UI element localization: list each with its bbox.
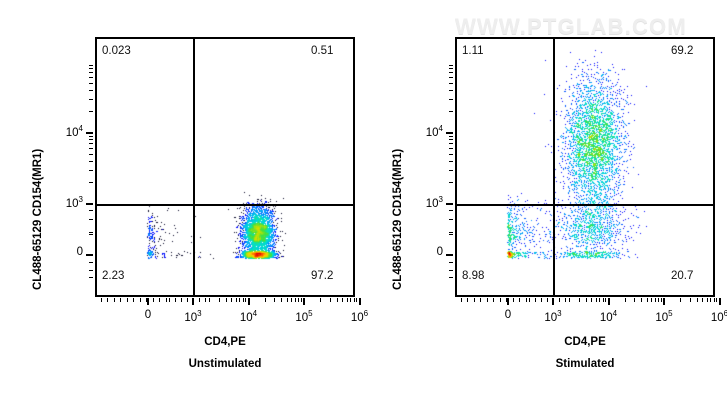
x-tick-minor [603, 298, 604, 302]
y-tick-minor [449, 277, 453, 278]
y-tick-minor [89, 111, 93, 112]
x-tick-minor [714, 298, 715, 302]
x-tick-minor [553, 298, 554, 302]
y-tick-major [446, 254, 453, 256]
y-tick-minor [449, 148, 453, 149]
y-tick-label: 103 [43, 195, 83, 210]
x-tick-minor [716, 298, 717, 302]
x-tick-minor [535, 298, 536, 302]
x-tick-label: 105 [284, 309, 324, 324]
x-tick-minor [569, 298, 570, 302]
x-tick-minor [166, 298, 167, 302]
x-tick-minor [175, 298, 176, 302]
x-axis-title-right: CD4,PE [455, 336, 715, 348]
x-tick-minor [265, 298, 266, 302]
x-tick-minor [159, 298, 160, 302]
x-tick-label: 0 [128, 309, 168, 321]
x-tick-minor [547, 298, 548, 302]
y-tick-minor [449, 139, 453, 140]
x-tick-label: 106 [700, 309, 727, 324]
y-tick-minor [89, 83, 93, 84]
x-tick-minor [239, 298, 240, 302]
x-tick-minor [226, 298, 227, 302]
x-tick-minor [350, 298, 351, 302]
x-tick-major [663, 298, 665, 305]
x-tick-minor [565, 298, 566, 302]
x-tick-minor [591, 298, 592, 302]
x-tick-minor [291, 298, 292, 302]
x-tick-minor [356, 298, 357, 302]
x-tick-minor [625, 298, 626, 302]
x-tick-minor [707, 298, 708, 302]
x-tick-minor [347, 298, 348, 302]
y-tick-minor [89, 262, 93, 263]
quadrant-label-lower-left-p1: 2.23 [102, 270, 124, 282]
x-tick-minor [526, 298, 527, 302]
x-tick-minor [480, 298, 481, 302]
y-tick-minor [449, 234, 453, 235]
x-tick-minor [500, 298, 501, 302]
x-tick-minor [680, 298, 681, 302]
x-tick-minor [605, 298, 606, 302]
y-axis-title-right: CL488-65129 CD154(MR1) [392, 149, 404, 290]
x-tick-minor [330, 298, 331, 302]
y-tick-minor [89, 68, 93, 69]
y-tick-minor [449, 270, 453, 271]
x-tick-minor [702, 298, 703, 302]
quadrant-divider-horizontal-left [97, 204, 353, 206]
x-tick-minor [354, 298, 355, 302]
y-tick-minor [89, 148, 93, 149]
x-tick-label: 104 [589, 309, 629, 324]
x-tick-minor [193, 298, 194, 302]
plot-area-unstimulated[interactable] [95, 37, 355, 297]
y-tick-minor [449, 65, 453, 66]
y-tick-minor [449, 83, 453, 84]
flow-cytometry-figure: WWW.PTGLAB.COM CL488-65129 CD154(MR1) 0.… [0, 0, 727, 407]
x-tick-minor [295, 298, 296, 302]
x-tick-minor [529, 298, 530, 302]
y-tick-label: 104 [43, 124, 83, 139]
y-tick-minor [89, 77, 93, 78]
x-tick-label: 103 [533, 309, 573, 324]
x-tick-minor [690, 298, 691, 302]
y-tick-label: 104 [403, 124, 443, 139]
x-tick-minor [559, 298, 560, 302]
y-tick-minor [89, 232, 93, 233]
x-tick-minor [199, 298, 200, 302]
x-tick-minor [243, 298, 244, 302]
y-tick-minor [449, 210, 453, 211]
x-tick-minor [153, 298, 154, 302]
y-tick-minor [89, 161, 93, 162]
x-tick-minor [579, 298, 580, 302]
quadrant-divider-horizontal-right [457, 204, 713, 206]
x-tick-minor [651, 298, 652, 302]
y-tick-minor [449, 136, 453, 137]
x-tick-major [608, 298, 610, 305]
y-tick-label: 0 [403, 246, 443, 258]
panel-unstimulated: CL488-65129 CD154(MR1) 0.023 0.51 2.23 9… [0, 0, 400, 407]
x-tick-major [147, 298, 149, 305]
x-tick-label: 104 [229, 309, 269, 324]
y-tick-minor [89, 99, 93, 100]
y-tick-minor [449, 219, 453, 220]
x-tick-minor [169, 298, 170, 302]
x-tick-minor [245, 298, 246, 302]
x-tick-minor [506, 298, 507, 302]
x-tick-minor [474, 298, 475, 302]
density-dotplot-canvas-unstimulated [97, 39, 353, 295]
y-tick-label: 0 [43, 246, 83, 258]
x-tick-minor [337, 298, 338, 302]
y-tick-major [86, 203, 93, 205]
x-tick-minor [647, 298, 648, 302]
y-tick-minor [449, 77, 453, 78]
x-tick-minor [133, 298, 134, 302]
x-tick-label: 0 [488, 309, 528, 321]
quadrant-label-upper-left-p2: 1.11 [462, 45, 484, 57]
quadrant-label-lower-right-p1: 97.2 [311, 270, 333, 282]
y-tick-major [86, 254, 93, 256]
x-tick-minor [586, 298, 587, 302]
quadrant-label-upper-right-p2: 69.2 [671, 45, 693, 57]
y-tick-minor [449, 154, 453, 155]
y-tick-minor [89, 136, 93, 137]
y-tick-minor [89, 90, 93, 91]
y-tick-minor [449, 143, 453, 144]
y-tick-minor [449, 68, 453, 69]
x-tick-minor [181, 298, 182, 302]
x-tick-minor [205, 298, 206, 302]
y-tick-minor [89, 182, 93, 183]
plot-area-stimulated[interactable] [455, 37, 715, 297]
y-tick-minor [89, 65, 93, 66]
y-tick-minor [89, 234, 93, 235]
x-tick-minor [231, 298, 232, 302]
x-tick-major [303, 298, 305, 305]
x-tick-major [248, 298, 250, 305]
x-tick-minor [467, 298, 468, 302]
x-tick-minor [127, 298, 128, 302]
x-tick-minor [596, 298, 597, 302]
y-tick-major [446, 203, 453, 205]
y-tick-minor [89, 139, 93, 140]
y-tick-label: 103 [403, 195, 443, 210]
y-tick-minor [449, 90, 453, 91]
y-tick-minor [89, 154, 93, 155]
y-tick-minor [449, 111, 453, 112]
y-tick-major [86, 132, 93, 134]
y-tick-minor [449, 170, 453, 171]
y-axis-title-left: CL488-65129 CD154(MR1) [32, 149, 44, 290]
x-tick-major [719, 298, 721, 305]
x-tick-minor [661, 298, 662, 302]
x-tick-minor [281, 298, 282, 302]
x-tick-minor [634, 298, 635, 302]
x-tick-minor [487, 298, 488, 302]
x-tick-minor [287, 298, 288, 302]
y-tick-minor [449, 161, 453, 162]
quadrant-divider-vertical-right [553, 39, 555, 295]
x-tick-minor [120, 298, 121, 302]
x-tick-minor [301, 298, 302, 302]
y-tick-minor [89, 277, 93, 278]
x-tick-minor [710, 298, 711, 302]
panel-caption-stimulated: Stimulated [455, 358, 715, 370]
panel-caption-unstimulated: Unstimulated [95, 358, 355, 370]
x-tick-minor [658, 298, 659, 302]
x-tick-major [507, 298, 509, 305]
x-tick-minor [101, 298, 102, 302]
y-tick-major [446, 132, 453, 134]
x-tick-label: 105 [644, 309, 684, 324]
x-tick-minor [513, 298, 514, 302]
x-tick-minor [697, 298, 698, 302]
y-tick-minor [89, 143, 93, 144]
x-tick-minor [146, 298, 147, 302]
x-tick-minor [541, 298, 542, 302]
y-tick-minor [449, 182, 453, 183]
x-tick-minor [114, 298, 115, 302]
y-tick-minor [449, 99, 453, 100]
x-tick-minor [493, 298, 494, 302]
x-tick-minor [140, 298, 141, 302]
x-tick-minor [655, 298, 656, 302]
x-tick-minor [641, 298, 642, 302]
x-tick-label: 103 [173, 309, 213, 324]
y-tick-minor [89, 219, 93, 220]
y-tick-minor [89, 210, 93, 211]
quadrant-label-lower-left-p2: 8.98 [462, 270, 484, 282]
x-tick-minor [236, 298, 237, 302]
quadrant-divider-vertical-left [193, 39, 195, 295]
y-tick-minor [449, 232, 453, 233]
x-tick-minor [519, 298, 520, 302]
density-dotplot-canvas-stimulated [457, 39, 713, 295]
y-tick-minor [449, 262, 453, 263]
x-tick-minor [342, 298, 343, 302]
x-tick-minor [219, 298, 220, 302]
quadrant-label-upper-right-p1: 0.51 [311, 45, 333, 57]
quadrant-label-lower-right-p2: 20.7 [671, 270, 693, 282]
x-axis-title-left: CD4,PE [95, 336, 355, 348]
x-tick-minor [461, 298, 462, 302]
y-tick-minor [449, 72, 453, 73]
y-tick-minor [89, 72, 93, 73]
x-tick-minor [298, 298, 299, 302]
x-tick-minor [599, 298, 600, 302]
y-tick-minor [89, 170, 93, 171]
x-tick-minor [274, 298, 275, 302]
panel-stimulated: CL488-65129 CD154(MR1) 1.11 69.2 8.98 20… [360, 0, 727, 407]
y-tick-minor [89, 270, 93, 271]
x-tick-minor [209, 298, 210, 302]
x-tick-minor [320, 298, 321, 302]
x-tick-minor [187, 298, 188, 302]
x-tick-minor [107, 298, 108, 302]
quadrant-label-upper-left-p1: 0.023 [102, 45, 131, 57]
